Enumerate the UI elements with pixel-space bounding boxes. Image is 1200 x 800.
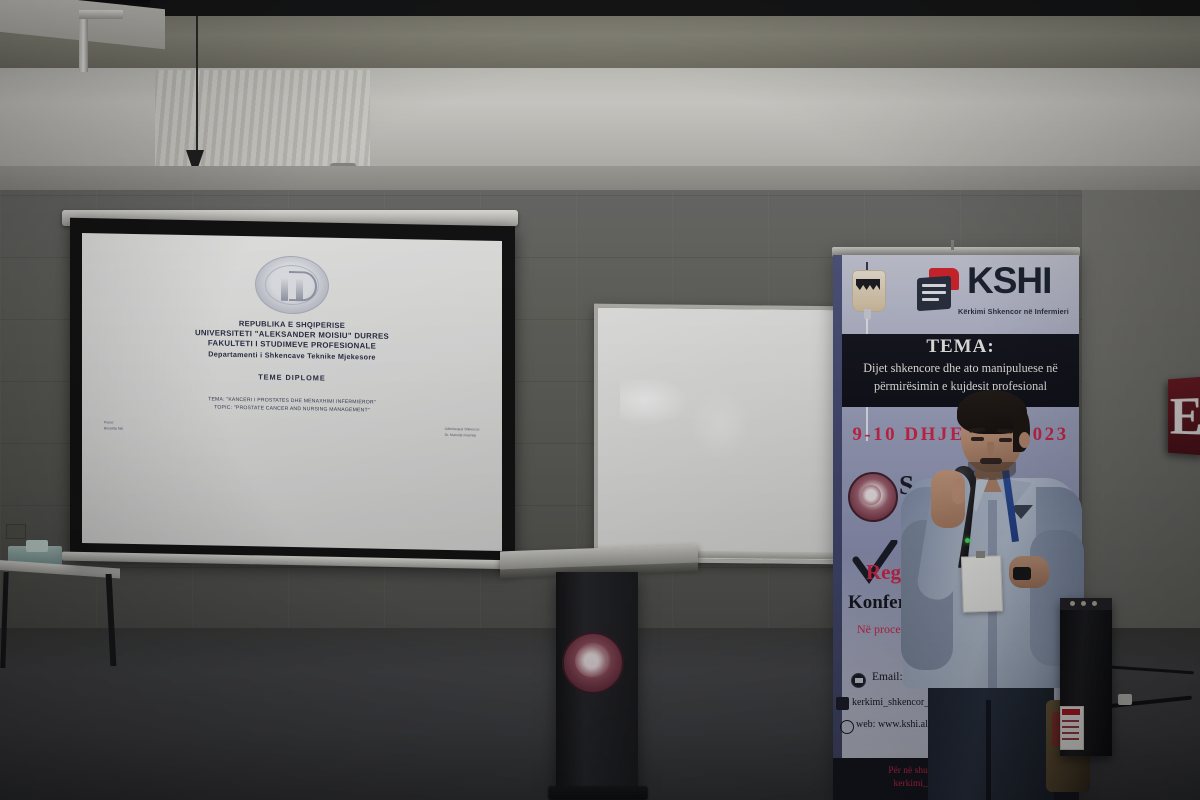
banner-side-stripe <box>833 255 842 800</box>
presentation-slide: REPUBLIKA E SHQIPERISE UNIVERSITETI "ALE… <box>92 246 492 444</box>
iv-bag-icon <box>852 270 886 312</box>
banner-tema-body: Dijet shkencore dhe ato manipuluese në p… <box>845 360 1076 395</box>
facebook-icon <box>836 697 849 710</box>
pa-speaker-label-line <box>1062 738 1079 740</box>
wall-socket <box>6 524 26 539</box>
kshi-logo-text: KSHI <box>967 262 1073 299</box>
whiteboard-glare-secondary <box>690 390 750 461</box>
email-icon <box>851 673 866 688</box>
pa-speaker-label-header <box>1062 709 1080 715</box>
pa-speaker-knob <box>1092 601 1097 606</box>
microphone-led <box>965 538 970 543</box>
table-item <box>26 540 48 552</box>
presenter-nose <box>987 442 994 456</box>
presentation-clicker <box>1013 567 1031 580</box>
slide-mentor-block: Udheheqesi Shkencor: Dr. Marsida Krasniq… <box>445 426 480 439</box>
slide-document-type: TEME DIPLOME <box>92 369 492 386</box>
pa-speaker-knob <box>1070 601 1075 606</box>
slide-topic: TEMA: "KANCERI I PROSTATES DHE MENAXHIMI… <box>92 394 492 417</box>
exit-sign-letter: E <box>1170 388 1200 444</box>
slide-credits: Punoi: Bresilda Tafi Udheheqesi Shkencor… <box>92 419 492 439</box>
pa-speaker-label-line <box>1062 732 1079 734</box>
globe-icon <box>840 720 854 734</box>
seal-tower <box>281 279 288 301</box>
banner-crest-center <box>861 485 881 505</box>
slide-student-block: Punoi: Bresilda Tafi <box>104 419 123 432</box>
podium-base <box>548 786 648 800</box>
pa-speaker-knob <box>1081 601 1086 606</box>
ceiling-pipe-vertical <box>79 10 88 72</box>
banner-status-text: Në proces <box>857 622 905 637</box>
podium-crest-center <box>575 645 607 677</box>
university-seal-icon <box>255 255 329 314</box>
presenter-name-badge <box>961 555 1003 612</box>
kshi-logo-subtitle: Kërkimi Shkencor në Infermieri <box>958 307 1076 316</box>
kshi-logo-line <box>922 284 946 287</box>
seal-arc <box>289 271 317 302</box>
presenter-legs <box>928 672 1054 800</box>
presenter-ear <box>1019 432 1030 448</box>
ceiling-duct-dark <box>150 0 1200 16</box>
conference-photo-scene: REPUBLIKA E SHQIPERISE UNIVERSITETI "ALE… <box>0 0 1200 800</box>
hanging-wire <box>196 16 198 168</box>
ceiling-pipe-horizontal <box>79 10 123 19</box>
banner-tema-title: TEMA: <box>842 336 1079 358</box>
kshi-logo-line <box>922 298 939 301</box>
presenter-leg-seam <box>986 700 991 800</box>
presenter-thumb <box>952 478 965 504</box>
pa-speaker-top-panel <box>1060 598 1112 610</box>
presenter-badge-clip <box>976 551 985 558</box>
banner-tema-line1: Dijet shkencore dhe ato manipuluese në <box>845 360 1076 378</box>
presenter-eye-left <box>971 437 984 441</box>
kshi-logo-line <box>922 291 946 294</box>
pa-speaker-label-line <box>1062 720 1079 722</box>
concrete-ceiling-beam <box>0 8 1200 76</box>
exit-sign: E <box>1168 377 1200 456</box>
cable-connector <box>1118 694 1132 705</box>
pa-speaker-label-line <box>1062 726 1079 728</box>
slide-student-name: Bresilda Tafi <box>104 426 123 433</box>
presenter-eye-right <box>999 438 1012 442</box>
slide-mentor-name: Dr. Marsida Krasniqi <box>445 432 480 439</box>
whiteboard-glare <box>620 380 690 427</box>
banner-hook <box>951 240 954 250</box>
